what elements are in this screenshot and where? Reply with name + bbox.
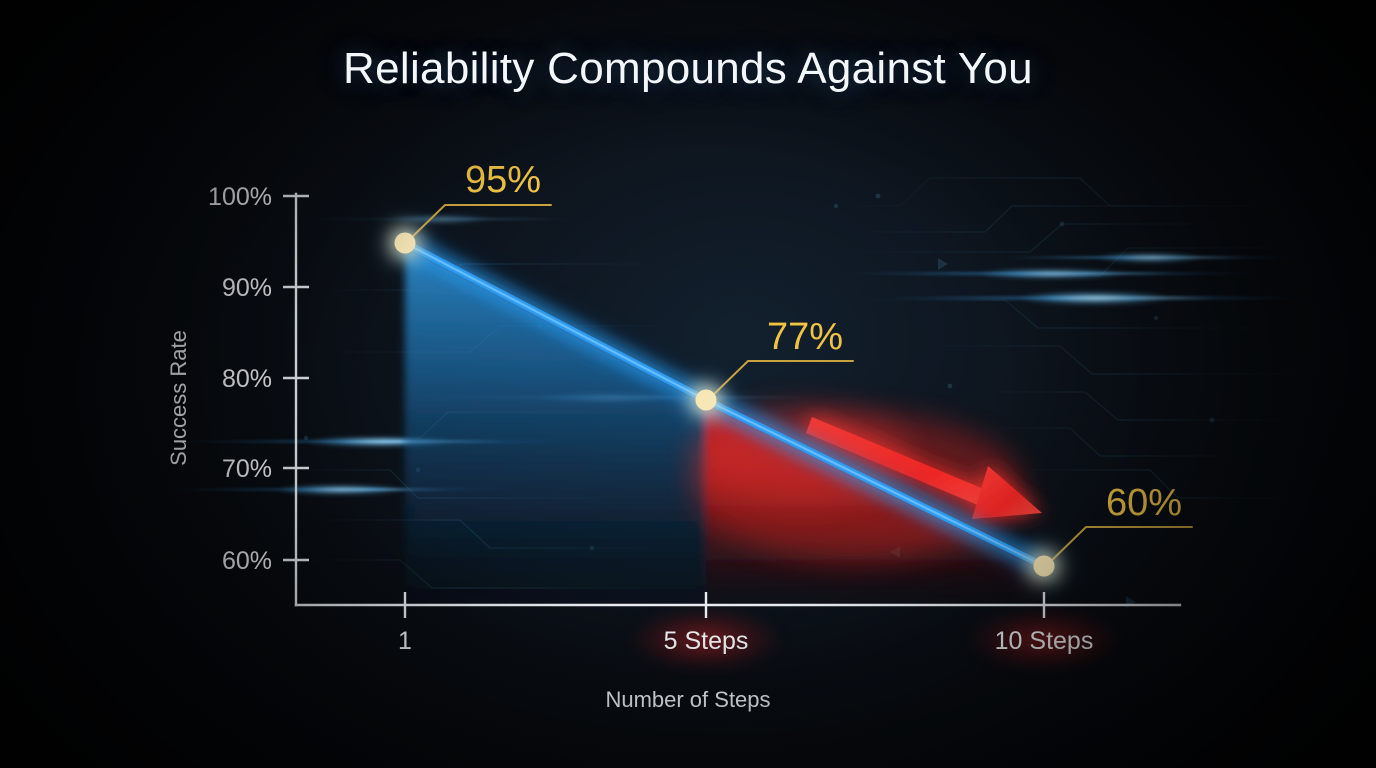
y-tick-label: 90% — [222, 274, 272, 302]
x-tick-labels: 1 5 Steps 10 Steps — [398, 627, 1093, 655]
chart-canvas: 100% 90% 80% 70% 60% 1 5 Steps 10 Steps … — [0, 0, 1376, 768]
y-tick-label: 70% — [222, 455, 272, 483]
leader-line-95 — [408, 205, 551, 241]
x-tick-label: 1 — [398, 627, 412, 655]
leader-line-77 — [710, 361, 853, 398]
x-axis-title: Number of Steps — [605, 687, 770, 712]
leader-line-60 — [1048, 527, 1192, 564]
data-point-marker[interactable] — [1034, 556, 1055, 577]
y-tick-label: 100% — [208, 183, 272, 211]
safe-zone-area — [405, 243, 706, 604]
y-tick-label: 60% — [222, 547, 272, 575]
y-axis-title: Success Rate — [166, 330, 191, 466]
x-tick-label: 5 Steps — [664, 627, 749, 655]
x-tick-label: 10 Steps — [995, 627, 1094, 655]
y-tick-labels: 100% 90% 80% 70% 60% — [208, 183, 272, 575]
data-point-marker[interactable] — [696, 390, 717, 411]
annotation-value-95: 95% — [465, 159, 541, 201]
y-tick-label: 80% — [222, 365, 272, 393]
annotation-value-77: 77% — [767, 316, 843, 358]
plot-area: 100% 90% 80% 70% 60% 1 5 Steps 10 Steps … — [0, 0, 1376, 768]
annotation-value-60: 60% — [1106, 482, 1182, 524]
chart-title: Reliability Compounds Against You — [0, 44, 1376, 94]
data-point-marker[interactable] — [395, 233, 416, 254]
